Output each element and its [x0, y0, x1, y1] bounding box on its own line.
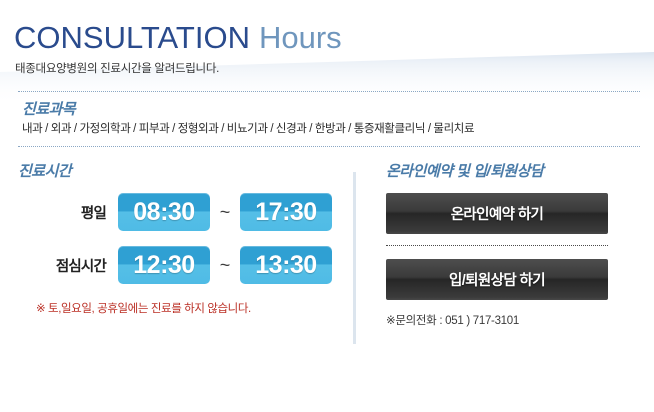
consultation-hours-heading: 진료시간 — [18, 160, 71, 181]
page-title: CONSULTATIONHours — [14, 20, 342, 56]
departments-heading: 진료과목 — [22, 98, 75, 119]
hours-row: 점심시간 12:30 ~ 13:30 — [0, 245, 332, 285]
inquiry-phone-number: ※문의전화 : 051 ) 717-3101 — [386, 312, 519, 328]
reservation-heading: 온라인예약 및 입/퇴원상담 — [386, 160, 543, 181]
page-subtitle: 태종대요양병원의 진료시간을 알려드립니다. — [15, 60, 219, 76]
panel-vertical-divider — [353, 172, 356, 344]
departments-list: 내과 / 외과 / 가정의학과 / 피부과 / 정형외과 / 비뇨기과 / 신경… — [22, 120, 474, 136]
hours-row: 평일 08:30 ~ 17:30 — [0, 192, 332, 232]
hours-time-separator: ~ — [210, 255, 240, 276]
hours-end-time: 17:30 — [240, 193, 332, 231]
closed-days-note: ※ 토,일요일, 공휴일에는 진료를 하지 않습니다. — [36, 300, 251, 316]
hours-row-label: 평일 — [0, 202, 118, 223]
hours-row-label: 점심시간 — [0, 255, 118, 276]
divider-between-buttons — [386, 245, 608, 246]
divider-above-departments — [18, 91, 640, 92]
hours-start-time: 12:30 — [118, 246, 210, 284]
page-title-sub: Hours — [259, 20, 342, 55]
divider-below-departments — [18, 146, 640, 147]
page-title-main: CONSULTATION — [14, 20, 250, 55]
admission-consultation-button[interactable]: 입/퇴원상담 하기 — [386, 259, 608, 300]
hours-start-time: 08:30 — [118, 193, 210, 231]
online-reservation-button[interactable]: 온라인예약 하기 — [386, 193, 608, 234]
hours-time-separator: ~ — [210, 202, 240, 223]
hours-end-time: 13:30 — [240, 246, 332, 284]
